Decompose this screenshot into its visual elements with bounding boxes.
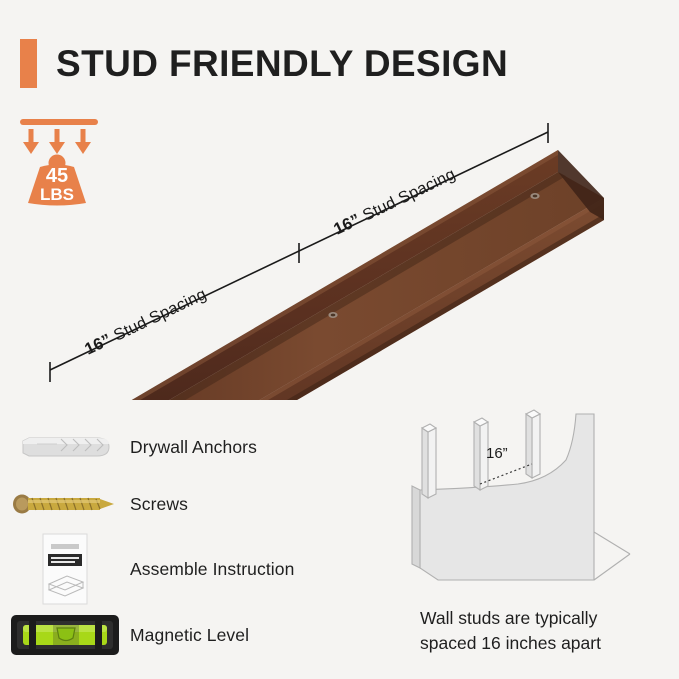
page-header: STUD FRIENDLY DESIGN (0, 30, 679, 96)
drywall-anchor-icon (0, 432, 130, 462)
screw-icon (0, 491, 130, 517)
accessory-label: Drywall Anchors (130, 437, 257, 458)
shelf-illustration: 16” Stud Spacing 16” Stud Spacing (0, 110, 679, 400)
list-item: Magnetic Level (0, 604, 390, 666)
dimension-label-left: 16” Stud Spacing (82, 285, 209, 359)
accessories-list: Drywall Anchors Screws (0, 412, 390, 667)
accessory-label: Magnetic Level (130, 625, 249, 646)
magnetic-level-icon (0, 611, 130, 659)
stud-caption-line1: Wall studs are typically (420, 606, 670, 631)
page-title: STUD FRIENDLY DESIGN (56, 45, 508, 82)
shelf-body (66, 150, 604, 400)
list-item: Screws (0, 475, 390, 533)
stud-caption: Wall studs are typically spaced 16 inche… (420, 606, 670, 656)
accent-bar (20, 39, 37, 88)
instruction-booklet-icon (0, 532, 130, 606)
list-item: Drywall Anchors (0, 418, 390, 476)
infographic-page: STUD FRIENDLY DESIGN 45 LBS (0, 0, 679, 679)
list-item: Assemble Instruction (0, 530, 390, 608)
stud-caption-line2: spaced 16 inches apart (420, 631, 670, 656)
accessory-label: Screws (130, 494, 188, 515)
stud-dimension-label: 16” (486, 445, 508, 462)
wall-studs-diagram: 16” (398, 408, 679, 598)
accessory-label: Assemble Instruction (130, 559, 294, 580)
